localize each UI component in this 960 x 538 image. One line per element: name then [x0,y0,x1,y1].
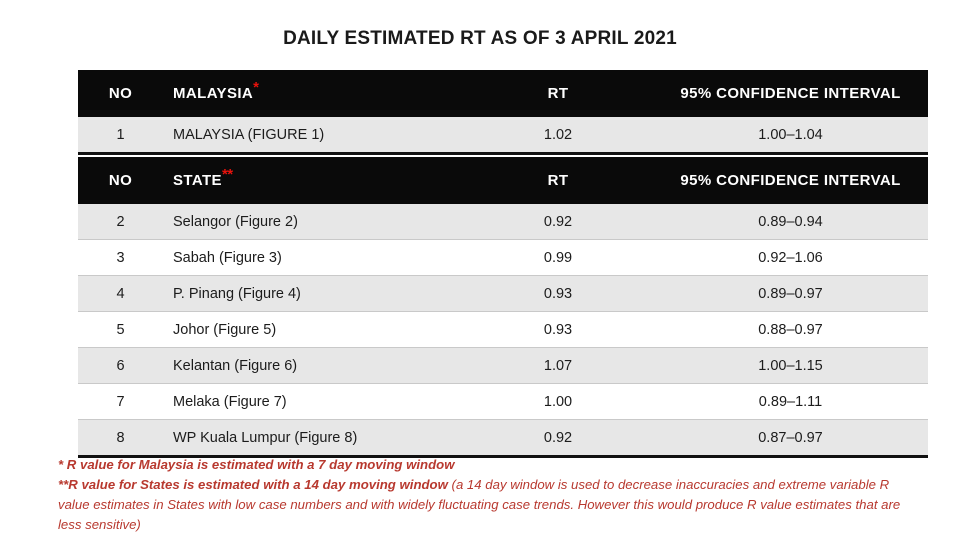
cell-no: 2 [78,214,163,230]
cell-rt: 0.92 [463,430,653,446]
cell-no: 4 [78,286,163,302]
report-page: DAILY ESTIMATED RT AS OF 3 APRIL 2021 NO… [0,0,960,538]
asterisk-marker: * [253,79,258,96]
cell-ci: 1.00–1.04 [653,127,928,143]
column-header-rt: RT [463,85,653,102]
column-header-no: NO [78,172,163,189]
cell-ci: 0.92–1.06 [653,250,928,266]
column-header-name: STATE** [163,172,463,189]
table-bottom-rule [78,152,928,155]
cell-rt: 1.07 [463,358,653,374]
cell-no: 8 [78,430,163,446]
cell-no: 3 [78,250,163,266]
column-header-name-label: STATE [173,172,222,189]
footnote-states: **R value for States is estimated with a… [58,475,918,535]
table-row: 6 Kelantan (Figure 6) 1.07 1.00–1.15 [78,348,928,383]
cell-ci: 0.87–0.97 [653,430,928,446]
footnote-malaysia: * R value for Malaysia is estimated with… [58,455,918,475]
cell-name: Selangor (Figure 2) [163,214,463,230]
table-row: 1 MALAYSIA (FIGURE 1) 1.02 1.00–1.04 [78,117,928,152]
table-row: 4 P. Pinang (Figure 4) 0.93 0.89–0.97 [78,276,928,311]
table-row: 7 Melaka (Figure 7) 1.00 0.89–1.11 [78,384,928,419]
table-row: 8 WP Kuala Lumpur (Figure 8) 0.92 0.87–0… [78,420,928,455]
cell-rt: 0.93 [463,286,653,302]
column-header-ci: 95% CONFIDENCE INTERVAL [653,172,928,189]
footnotes: * R value for Malaysia is estimated with… [58,455,918,535]
cell-ci: 0.89–1.11 [653,394,928,410]
cell-rt: 1.00 [463,394,653,410]
asterisk-marker: ** [222,166,233,183]
footnote-states-main: **R value for States is estimated with a… [58,477,452,492]
cell-ci: 0.89–0.94 [653,214,928,230]
table-row: 3 Sabah (Figure 3) 0.99 0.92–1.06 [78,240,928,275]
cell-no: 7 [78,394,163,410]
cell-ci: 0.89–0.97 [653,286,928,302]
malaysia-table: NO MALAYSIA* RT 95% CONFIDENCE INTERVAL … [78,70,928,155]
states-table: NO STATE** RT 95% CONFIDENCE INTERVAL 2 … [78,157,928,458]
cell-name: WP Kuala Lumpur (Figure 8) [163,430,463,446]
cell-name: Kelantan (Figure 6) [163,358,463,374]
page-title: DAILY ESTIMATED RT AS OF 3 APRIL 2021 [0,28,960,50]
cell-no: 1 [78,127,163,143]
table-row: 2 Selangor (Figure 2) 0.92 0.89–0.94 [78,204,928,239]
cell-name: P. Pinang (Figure 4) [163,286,463,302]
cell-name: Johor (Figure 5) [163,322,463,338]
column-header-ci: 95% CONFIDENCE INTERVAL [653,85,928,102]
column-header-no: NO [78,85,163,102]
cell-rt: 0.99 [463,250,653,266]
column-header-name: MALAYSIA* [163,85,463,102]
table-row: 5 Johor (Figure 5) 0.93 0.88–0.97 [78,312,928,347]
cell-name: MALAYSIA (FIGURE 1) [163,127,463,143]
states-table-header-row: NO STATE** RT 95% CONFIDENCE INTERVAL [78,157,928,204]
cell-no: 5 [78,322,163,338]
column-header-name-label: MALAYSIA [173,85,253,102]
cell-ci: 0.88–0.97 [653,322,928,338]
cell-rt: 0.92 [463,214,653,230]
cell-no: 6 [78,358,163,374]
cell-rt: 0.93 [463,322,653,338]
cell-name: Melaka (Figure 7) [163,394,463,410]
cell-ci: 1.00–1.15 [653,358,928,374]
column-header-rt: RT [463,172,653,189]
malaysia-table-header-row: NO MALAYSIA* RT 95% CONFIDENCE INTERVAL [78,70,928,117]
cell-rt: 1.02 [463,127,653,143]
cell-name: Sabah (Figure 3) [163,250,463,266]
